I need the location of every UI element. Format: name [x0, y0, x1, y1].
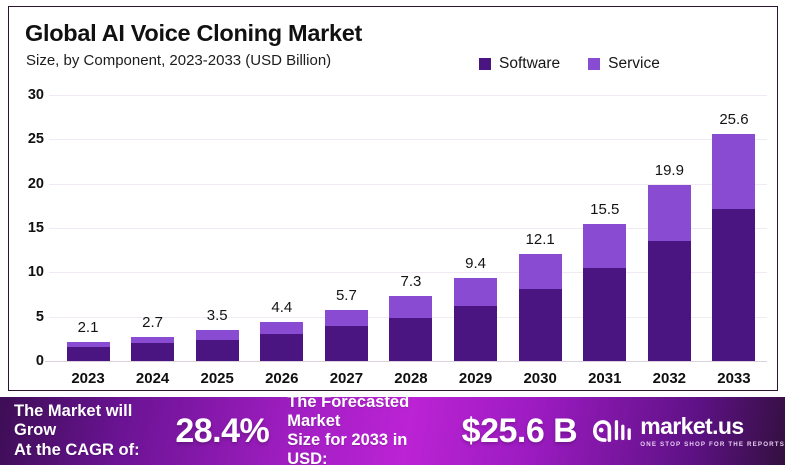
- bar-value-label: 12.1: [526, 231, 555, 248]
- page-title: Global AI Voice Cloning Market: [25, 20, 362, 47]
- y-axis-tick-label: 25: [28, 131, 55, 147]
- bar-segment-service[interactable]: [519, 254, 562, 289]
- plot-area: 051015202530 2.120232.720243.520254.4202…: [55, 95, 767, 361]
- x-axis-tick-label: 2032: [653, 370, 686, 387]
- bar-segment-service[interactable]: [389, 296, 432, 317]
- cagr-label: The Market will Grow At the CAGR of:: [14, 402, 161, 459]
- square-swatch-icon: [479, 58, 491, 70]
- bar-segment-service[interactable]: [325, 310, 368, 325]
- x-axis-tick-label: 2023: [71, 370, 104, 387]
- bar-value-label: 3.5: [207, 307, 228, 324]
- y-axis-tick-label: 20: [28, 176, 55, 192]
- y-axis-tick-label: 15: [28, 220, 55, 236]
- bar-value-label: 15.5: [590, 201, 619, 218]
- chart-card: Global AI Voice Cloning Market Size, by …: [8, 6, 778, 391]
- x-axis-tick-label: 2033: [717, 370, 750, 387]
- chart-screenshot: Global AI Voice Cloning Market Size, by …: [0, 0, 785, 465]
- x-axis-tick-label: 2029: [459, 370, 492, 387]
- summary-banner: The Market will Grow At the CAGR of: 28.…: [0, 397, 785, 465]
- bar-column[interactable]: 2.72024: [126, 95, 180, 361]
- bar-stack[interactable]: [260, 322, 303, 361]
- bar-segment-software[interactable]: [454, 306, 497, 361]
- bar-stack[interactable]: [196, 330, 239, 361]
- market-us-logo-icon: [593, 418, 633, 444]
- bar-stack[interactable]: [454, 278, 497, 361]
- bar-group: 2.120232.720243.520254.420265.720277.320…: [55, 95, 767, 361]
- bar-value-label: 2.7: [142, 314, 163, 331]
- chart-subtitle: Size, by Component, 2023-2033 (USD Billi…: [26, 52, 331, 69]
- y-axis-tick-label: 10: [28, 264, 55, 280]
- bar-segment-software[interactable]: [325, 326, 368, 361]
- bar-segment-software[interactable]: [519, 289, 562, 361]
- bar-segment-software[interactable]: [260, 334, 303, 361]
- bar-segment-service[interactable]: [648, 185, 691, 242]
- chart-legend: SoftwareService: [479, 55, 660, 73]
- bar-stack[interactable]: [325, 310, 368, 361]
- bar-value-label: 4.4: [271, 299, 292, 316]
- x-axis-tick-label: 2028: [394, 370, 427, 387]
- x-axis-tick-label: 2027: [330, 370, 363, 387]
- bar-column[interactable]: 9.42029: [449, 95, 503, 361]
- bar-column[interactable]: 19.92032: [642, 95, 696, 361]
- bar-segment-software[interactable]: [67, 347, 110, 361]
- bar-stack[interactable]: [712, 134, 755, 361]
- y-axis-tick-label: 0: [36, 353, 55, 369]
- forecast-label: The Forecasted Market Size for 2033 in U…: [287, 397, 447, 465]
- bar-column[interactable]: 3.52025: [190, 95, 244, 361]
- bar-segment-service[interactable]: [454, 278, 497, 306]
- bar-stack[interactable]: [519, 254, 562, 361]
- bar-stack[interactable]: [648, 185, 691, 361]
- x-axis-tick-label: 2026: [265, 370, 298, 387]
- brand-tagline: ONE STOP SHOP FOR THE REPORTS: [640, 441, 785, 448]
- legend-item-software[interactable]: Software: [479, 55, 560, 73]
- bar-segment-software[interactable]: [389, 318, 432, 361]
- forecast-value: $25.6 B: [462, 412, 578, 451]
- bar-value-label: 25.6: [719, 111, 748, 128]
- x-axis-tick-label: 2030: [523, 370, 556, 387]
- bar-stack[interactable]: [131, 337, 174, 361]
- square-swatch-icon: [588, 58, 600, 70]
- x-axis-tick-label: 2025: [201, 370, 234, 387]
- bar-segment-service[interactable]: [712, 134, 755, 208]
- bar-column[interactable]: 12.12030: [513, 95, 567, 361]
- bar-segment-service[interactable]: [260, 322, 303, 334]
- bar-stack[interactable]: [583, 224, 626, 361]
- bar-value-label: 7.3: [401, 273, 422, 290]
- bar-column[interactable]: 25.62033: [707, 95, 761, 361]
- bar-value-label: 2.1: [78, 319, 99, 336]
- bar-segment-service[interactable]: [583, 224, 626, 268]
- cagr-value: 28.4%: [175, 412, 269, 451]
- bar-column[interactable]: 15.52031: [578, 95, 632, 361]
- bar-segment-software[interactable]: [583, 268, 626, 361]
- bar-value-label: 19.9: [655, 162, 684, 179]
- bar-segment-service[interactable]: [196, 330, 239, 340]
- brand-logo: market.us ONE STOP SHOP FOR THE REPORTS: [593, 415, 785, 448]
- gridline: [45, 361, 767, 362]
- bar-segment-software[interactable]: [196, 340, 239, 361]
- x-axis-tick-label: 2031: [588, 370, 621, 387]
- bar-segment-software[interactable]: [712, 209, 755, 362]
- brand-name: market.us: [640, 415, 785, 438]
- legend-label: Service: [608, 55, 660, 73]
- bar-column[interactable]: 7.32028: [384, 95, 438, 361]
- bar-column[interactable]: 4.42026: [255, 95, 309, 361]
- legend-item-service[interactable]: Service: [588, 55, 660, 73]
- legend-label: Software: [499, 55, 560, 73]
- bar-segment-software[interactable]: [648, 241, 691, 361]
- bar-stack[interactable]: [389, 296, 432, 361]
- bar-stack[interactable]: [67, 342, 110, 361]
- y-axis-tick-label: 30: [28, 87, 55, 103]
- bar-value-label: 9.4: [465, 255, 486, 272]
- bar-value-label: 5.7: [336, 287, 357, 304]
- x-axis-tick-label: 2024: [136, 370, 169, 387]
- bar-segment-software[interactable]: [131, 343, 174, 361]
- bar-column[interactable]: 5.72027: [319, 95, 373, 361]
- brand-wordmark: market.us ONE STOP SHOP FOR THE REPORTS: [640, 415, 785, 448]
- bar-column[interactable]: 2.12023: [61, 95, 115, 361]
- y-axis-tick-label: 5: [36, 309, 55, 325]
